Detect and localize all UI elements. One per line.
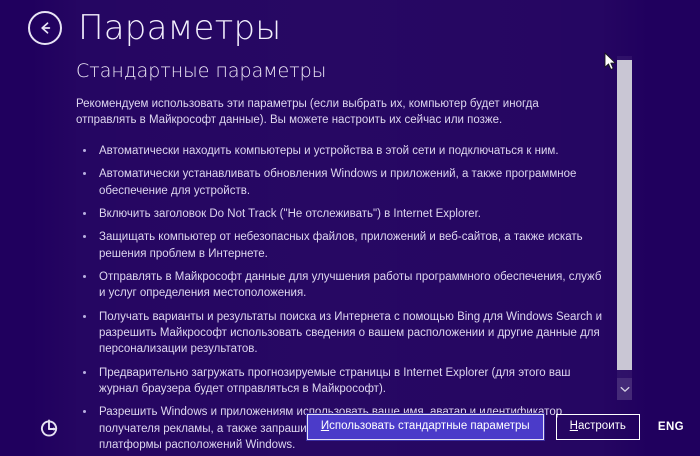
list-item: Получать варианты и результаты поиска из…	[76, 309, 604, 358]
list-item: Автоматически находить компьютеры и устр…	[76, 143, 604, 159]
button-label: спользовать стандартные параметры	[329, 420, 530, 432]
button-accel-char: Н	[570, 420, 578, 432]
ease-of-access-button[interactable]	[36, 418, 62, 444]
setup-screen: Параметры Стандартные параметры Рекоменд…	[0, 0, 700, 456]
command-button-row: Использовать стандартные параметры Настр…	[307, 414, 690, 440]
intro-paragraph: Рекомендуем использовать эти параметры (…	[76, 96, 576, 129]
section-heading: Стандартные параметры	[76, 60, 604, 83]
content-area: Стандартные параметры Рекомендуем исполь…	[76, 60, 604, 400]
vertical-scrollbar[interactable]	[617, 56, 632, 400]
list-item: Отправлять в Майкрософт данные для улучш…	[76, 269, 604, 302]
header: Параметры	[0, 0, 700, 56]
back-arrow-icon	[36, 19, 54, 37]
list-item: Защищать компьютер от небезопасных файло…	[76, 229, 604, 262]
settings-bullet-list: Автоматически находить компьютеры и устр…	[76, 143, 604, 453]
page-title: Параметры	[78, 11, 281, 45]
scrollbar-thumb[interactable]	[617, 60, 632, 370]
use-default-settings-button[interactable]: Использовать стандартные параметры	[307, 414, 544, 440]
list-item: Включить заголовок Do Not Track ("Не отс…	[76, 206, 604, 222]
bottom-bar: Использовать стандартные параметры Настр…	[0, 410, 700, 456]
list-item: Предварительно загружать прогнозируемые …	[76, 365, 604, 398]
button-label: астроить	[578, 420, 626, 432]
button-accel-char: И	[321, 420, 329, 432]
list-item: Автоматически устанавливать обновления W…	[76, 166, 604, 199]
back-button[interactable]	[28, 11, 62, 45]
language-indicator[interactable]: ENG	[658, 421, 684, 433]
ease-of-access-icon	[38, 418, 60, 445]
scroll-down-button[interactable]	[617, 378, 632, 400]
chevron-down-icon	[620, 380, 630, 398]
customize-button[interactable]: Настроить	[556, 414, 640, 440]
